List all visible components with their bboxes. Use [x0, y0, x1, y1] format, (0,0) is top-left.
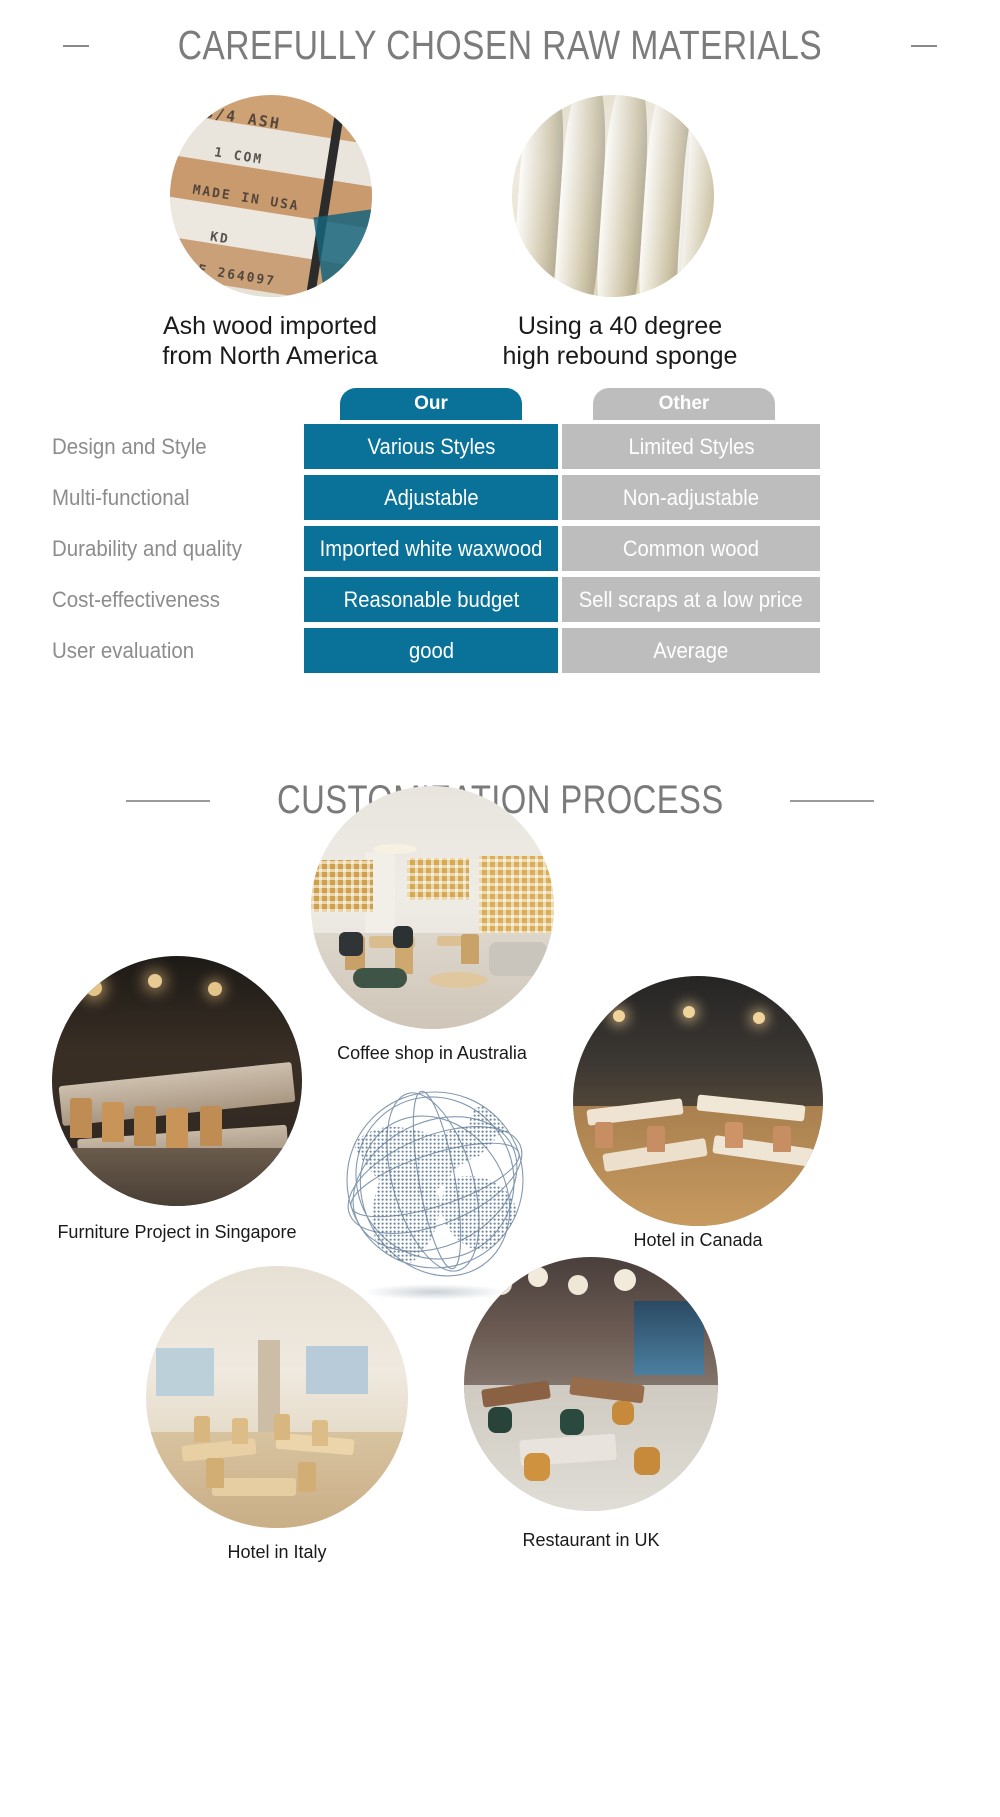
wood-planks-art: 8/4 ASH 1 COM MADE IN USA KD TAE 264097 — [170, 95, 372, 297]
blue-mark — [313, 209, 372, 287]
row-label: User evaluation — [52, 628, 194, 673]
ash-wood-caption-line1: Ash wood imported — [100, 312, 440, 342]
table-row: User evaluationgoodAverage — [0, 628, 1000, 673]
row-other-value: Sell scraps at a low price — [579, 587, 803, 613]
table-row: Cost-effectivenessReasonable budgetSell … — [0, 577, 1000, 622]
row-other-value: Limited Styles — [628, 434, 754, 460]
row-our-value: good — [408, 638, 453, 664]
project-photo-canada — [573, 976, 823, 1226]
row-our-cell: good — [304, 628, 558, 673]
row-our-value: Various Styles — [367, 434, 495, 460]
sponge-photo — [512, 95, 714, 297]
project-caption-italy: Hotel in Italy — [147, 1542, 407, 1563]
comparison-rows: Design and StyleVarious StylesLimited St… — [0, 424, 1000, 679]
infographic-page: CAREFULLY CHOSEN RAW MATERIALS 8/4 ASH 1… — [0, 0, 1000, 1817]
row-other-value: Average — [653, 638, 728, 664]
column-header-other: Other — [593, 388, 775, 420]
project-caption-australia: Coffee shop in Australia — [262, 1043, 602, 1064]
header-rule-left — [63, 45, 89, 47]
sponge-caption: Using a 40 degree high rebound sponge — [455, 312, 785, 371]
row-our-value: Imported white waxwood — [320, 536, 543, 562]
row-label: Cost-effectiveness — [52, 577, 220, 622]
materials-title: CAREFULLY CHOSEN RAW MATERIALS — [178, 22, 822, 69]
project-caption-singapore: Furniture Project in Singapore — [0, 1222, 357, 1243]
project-photo-singapore — [52, 956, 302, 1206]
project-caption-uk: Restaurant in UK — [461, 1530, 721, 1551]
globe-graphic — [325, 1070, 545, 1310]
cafe-scene-art — [311, 786, 554, 1029]
sponge-caption-line2: high rebound sponge — [455, 342, 785, 372]
row-our-cell: Various Styles — [304, 424, 558, 469]
row-other-cell: Limited Styles — [562, 424, 820, 469]
canteen-scene-art — [573, 976, 823, 1226]
stencil-line-4: KD — [209, 230, 231, 248]
row-label: Multi-functional — [52, 475, 190, 520]
sponge-caption-line1: Using a 40 degree — [455, 312, 785, 342]
row-our-cell: Reasonable budget — [304, 577, 558, 622]
row-other-cell: Sell scraps at a low price — [562, 577, 820, 622]
table-row: Design and StyleVarious StylesLimited St… — [0, 424, 1000, 469]
project-photo-australia — [311, 786, 554, 1029]
row-our-cell: Adjustable — [304, 475, 558, 520]
row-our-cell: Imported white waxwood — [304, 526, 558, 571]
materials-section-header: CAREFULLY CHOSEN RAW MATERIALS — [0, 22, 1000, 69]
column-header-our: Our — [340, 388, 522, 420]
ash-wood-photo: 8/4 ASH 1 COM MADE IN USA KD TAE 264097 — [170, 95, 372, 297]
project-gallery: Coffee shop in Australia Furniture Proje… — [0, 760, 1000, 1817]
foam-sponge-art — [512, 95, 714, 297]
project-caption-canada: Hotel in Canada — [523, 1230, 873, 1251]
row-other-value: Non-adjustable — [623, 485, 759, 511]
row-label: Durability and quality — [52, 526, 242, 571]
row-our-value: Reasonable budget — [343, 587, 519, 613]
ash-wood-caption: Ash wood imported from North America — [100, 312, 440, 371]
row-other-cell: Non-adjustable — [562, 475, 820, 520]
row-label: Design and Style — [52, 424, 207, 469]
banquet-scene-art — [52, 956, 302, 1206]
row-other-value: Common wood — [623, 536, 759, 562]
ash-wood-caption-line2: from North America — [100, 342, 440, 372]
row-our-value: Adjustable — [384, 485, 479, 511]
row-other-cell: Average — [562, 628, 820, 673]
table-row: Multi-functionalAdjustableNon-adjustable — [0, 475, 1000, 520]
header-rule-right — [911, 45, 937, 47]
row-other-cell: Common wood — [562, 526, 820, 571]
table-row: Durability and qualityImported white wax… — [0, 526, 1000, 571]
